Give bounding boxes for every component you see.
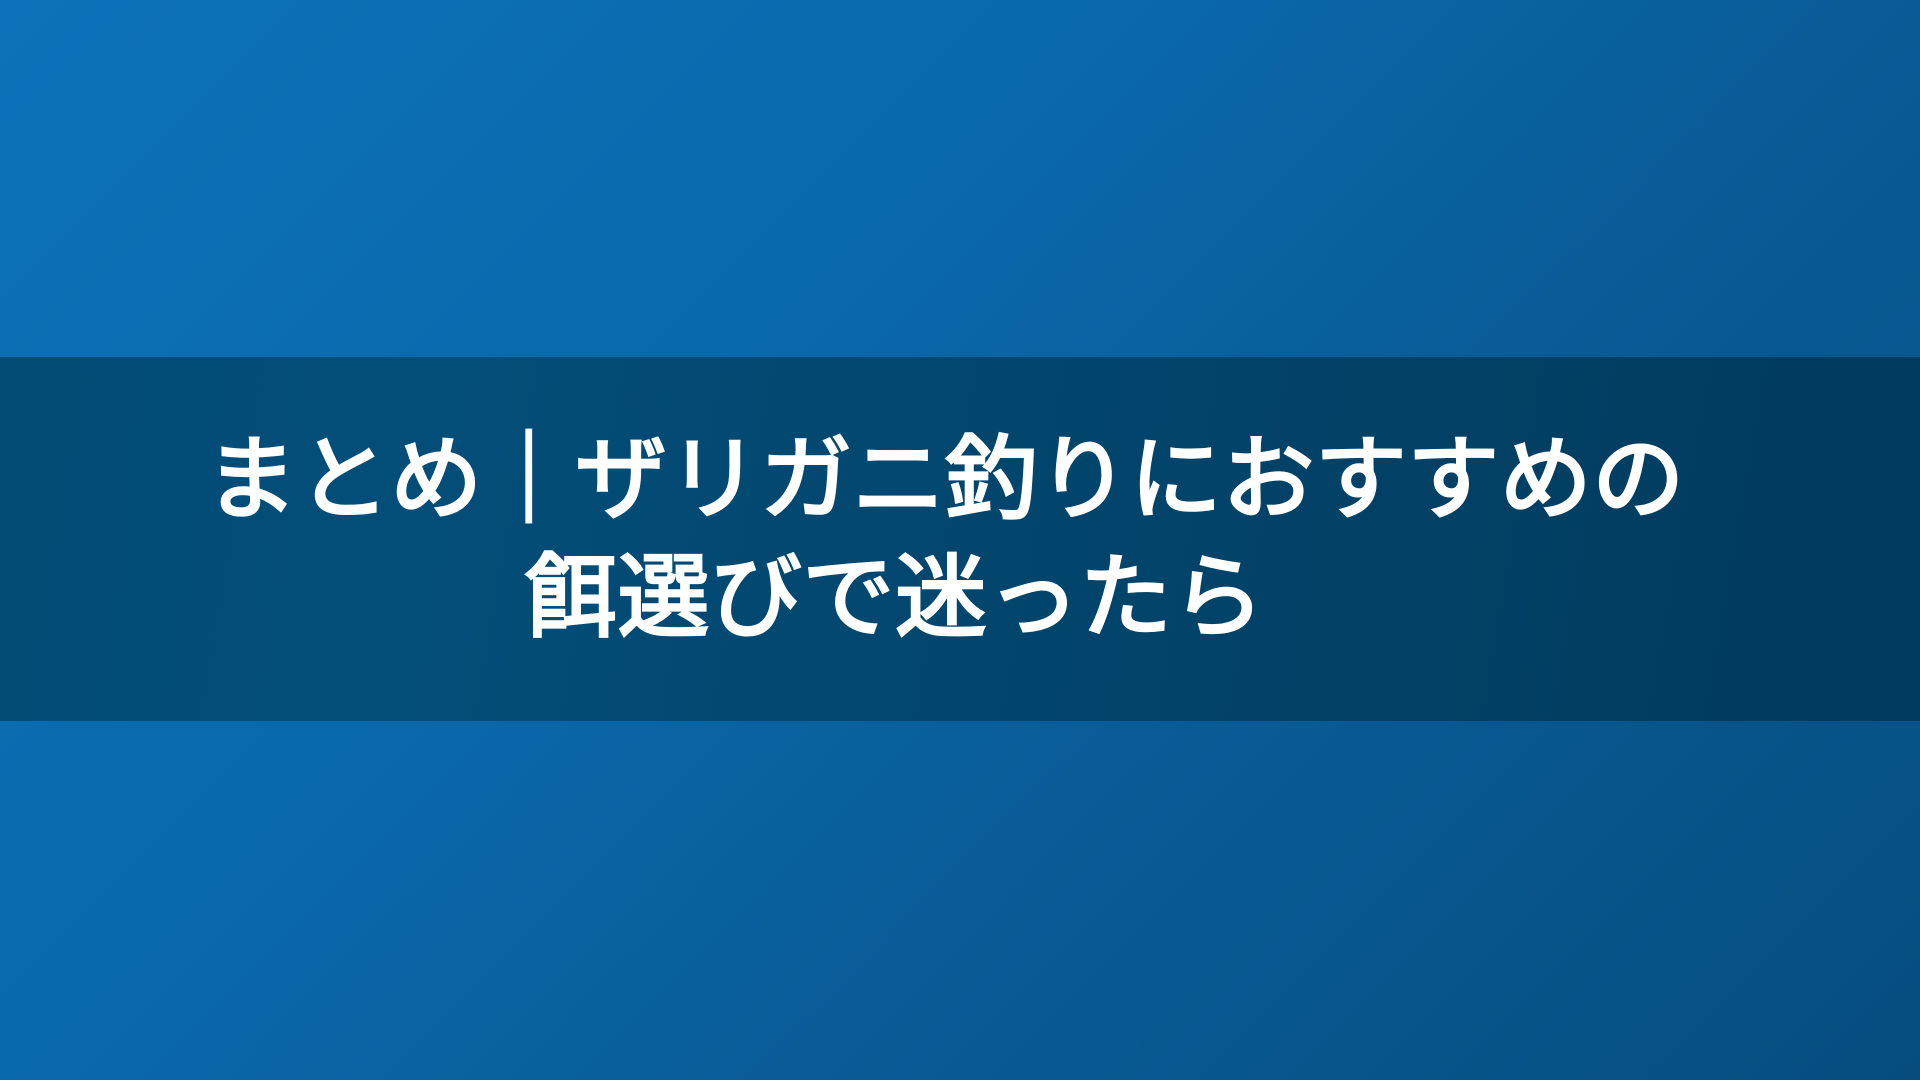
title-block: まとめ｜ザリガニ釣りにおすすめの 餌選びで迷ったら	[195, 421, 1695, 657]
title-band: まとめ｜ザリガニ釣りにおすすめの 餌選びで迷ったら	[0, 357, 1920, 721]
page-title-line-1: まとめ｜ザリガニ釣りにおすすめの	[195, 421, 1695, 539]
hero-banner: まとめ｜ザリガニ釣りにおすすめの 餌選びで迷ったら	[0, 0, 1920, 1080]
page-title-line-2: 餌選びで迷ったら	[195, 539, 1695, 657]
